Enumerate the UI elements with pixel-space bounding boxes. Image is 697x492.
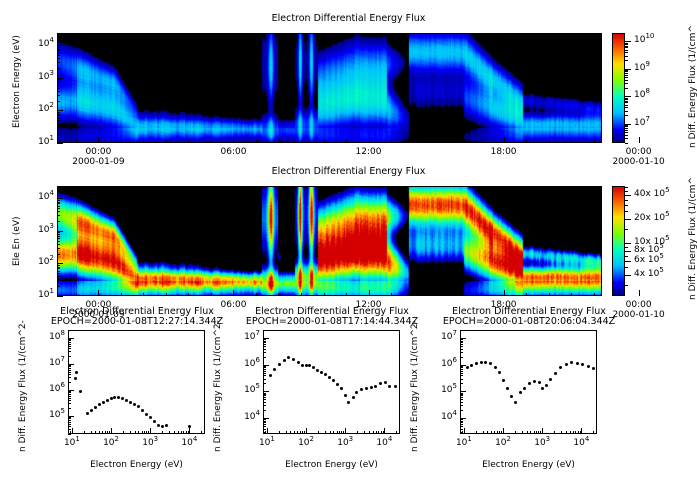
spectrum-ytick-label-2: 105	[428, 385, 457, 395]
spectrum-data-point-1	[283, 359, 286, 362]
spectrum-ytick-label-0: 108	[36, 332, 65, 342]
middle-ytick-minor	[57, 203, 60, 204]
spectrum-xtick-minor-1	[396, 431, 397, 434]
spectrum-ytick-minor-1	[263, 424, 266, 425]
spectrum-data-point-1	[340, 387, 343, 390]
spectrum-ytick-minor-0	[68, 420, 71, 421]
top-cbtick-minor	[625, 47, 628, 48]
middle-cbtick-minor	[625, 191, 628, 192]
top-ytick-minor	[57, 83, 60, 84]
spectrum-xtick-minor-1	[304, 431, 305, 434]
top-xtick-minor	[549, 140, 550, 143]
middle-xtick-minor	[188, 293, 189, 296]
spectrum-ytick-minor-0	[68, 394, 71, 395]
spectrum-xtick-minor-1	[294, 431, 295, 434]
top-ytick-minor	[57, 58, 60, 59]
top-cbtick-minor	[625, 43, 628, 44]
spectrum-xtick-minor-1	[373, 431, 374, 434]
middle-xtick-minor	[346, 293, 347, 296]
spectrum-data-point-1	[352, 396, 355, 399]
spectrum-xtick-minor-2	[566, 431, 567, 434]
spectrum-xtick-minor-2	[573, 431, 574, 434]
spectrum-xtick-minor-2	[494, 431, 495, 434]
top-xtick-minor	[256, 140, 257, 143]
spectrum-xtick-minor-1	[376, 431, 377, 434]
spectrum-xtick-minor-2	[491, 431, 492, 434]
top-cbtick-minor	[625, 50, 628, 51]
top-cbtick-minor	[625, 111, 628, 112]
spectrum-xtick-minor-0	[162, 431, 163, 434]
spectrum-xtick-minor-1	[330, 431, 331, 434]
top-panel-title: Electron Differential Energy Flux	[0, 13, 697, 24]
middle-ytick-minor	[57, 211, 60, 212]
spectrum-ytick-minor-1	[263, 344, 266, 345]
spectrum-xtick-major-1	[345, 428, 346, 434]
spectrum-xtick-minor-1	[300, 431, 301, 434]
spectrum-ytick-minor-0	[68, 346, 71, 347]
spectrum-ytick-minor-0	[68, 403, 71, 404]
spectrum-xtick-minor-0	[174, 431, 175, 434]
middle-ytick-minor	[57, 276, 60, 277]
spectrum-xtick-minor-0	[84, 431, 85, 434]
spectrum-data-point-1	[388, 385, 391, 388]
spectrum-ytick-minor-1	[263, 369, 266, 370]
spectrum-ytick-minor-2	[460, 383, 463, 384]
spectrum-xtick-minor-1	[302, 431, 303, 434]
spectrum-xtick-major-2	[464, 428, 465, 434]
middle-colorbar	[612, 186, 625, 296]
spectrum-xtick-minor-0	[123, 431, 124, 434]
spectrum-ytick-minor-1	[263, 357, 266, 358]
spectrum-xtick-minor-2	[499, 431, 500, 434]
spectrum-ytick-minor-1	[263, 421, 266, 422]
middle-xtick-minor	[278, 293, 279, 296]
top-xtick-minor	[436, 140, 437, 143]
spectrum-ytick-minor-0	[68, 377, 71, 378]
top-ytick-minor	[57, 91, 60, 92]
spectrum-ytick-minor-1	[263, 383, 266, 384]
spectrum-xtick-minor-2	[580, 431, 581, 434]
spectrum-xtick-minor-1	[279, 431, 280, 434]
spectrum-ytick-minor-0	[68, 340, 71, 341]
spectrum-xtick-minor-2	[483, 431, 484, 434]
spectrum-xtick-label-1: 104	[370, 438, 398, 448]
spectrum-ytick-minor-0	[68, 368, 71, 369]
spectrum-data-point-0	[102, 401, 105, 404]
middle-panel-ylabel: Ele En (eV)	[12, 216, 22, 266]
top-ytick-minor	[57, 68, 60, 69]
top-cbtick-minor	[625, 80, 628, 81]
middle-ytick-minor	[57, 267, 60, 268]
spectrum-ytick-label-2: 106	[428, 359, 457, 369]
top-cbtick-minor	[625, 105, 628, 106]
top-xtick-minor	[391, 140, 392, 143]
top-ytick-minor	[57, 79, 60, 80]
spectrum-xtick-minor-0	[148, 431, 149, 434]
spectrum-xtick-minor-1	[339, 431, 340, 434]
top-ytick-minor	[57, 95, 60, 96]
spectrum-data-point-0	[79, 390, 82, 393]
spectrum-ytick-minor-1	[263, 419, 266, 420]
middle-ytick-label: 101	[27, 290, 54, 300]
spectrum-xtick-major-1	[384, 428, 385, 434]
spectrum-data-point-2	[545, 384, 548, 387]
spectrum-data-point-1	[320, 371, 323, 374]
spectrum-ytick-label-2: 107	[428, 332, 457, 342]
middle-cbtick-major	[625, 261, 631, 262]
top-cbtick-minor	[625, 130, 628, 131]
top-xtick-minor	[76, 140, 77, 143]
spectrum-data-point-1	[305, 364, 308, 367]
spectrum-ytick-minor-1	[263, 429, 266, 430]
spectrum-xtick-minor-2	[515, 431, 516, 434]
middle-xtick-minor	[301, 293, 302, 296]
top-xtick-minor	[346, 140, 347, 143]
top-ytick-minor	[57, 101, 60, 102]
top-ytick-major	[57, 143, 63, 144]
spectrum-xtick-minor-2	[530, 431, 531, 434]
spectrum-ytick-minor-0	[68, 365, 71, 366]
top-ytick-minor	[57, 36, 60, 37]
middle-ytick-minor	[57, 238, 60, 239]
spectrum-ytick-minor-0	[68, 342, 71, 343]
spectrum-xtick-minor-0	[95, 431, 96, 434]
spectrum-xlabel-0: Electron Energy (eV)	[38, 460, 235, 470]
spectrum-xtick-major-2	[581, 428, 582, 434]
spectrum-xtick-minor-1	[297, 431, 298, 434]
spectrum-ytick-minor-2	[460, 342, 463, 343]
spectrum-ytick-minor-0	[68, 396, 71, 397]
spectrum-xtick-major-1	[267, 428, 268, 434]
spectrum-ylabel-0: n Diff. Energy Flux (1/(cm^2-	[18, 320, 28, 452]
top-cbtick-minor	[625, 107, 628, 108]
spectrum-ytick-minor-1	[263, 371, 266, 372]
spectrum-ytick-minor-1	[263, 397, 266, 398]
top-xtick-minor	[166, 140, 167, 143]
top-xtick-minor	[594, 140, 595, 143]
spectrum-ytick-minor-1	[263, 399, 266, 400]
spectrum-data-point-1	[278, 363, 281, 366]
top-ytick-label: 104	[27, 39, 54, 49]
spectrum-data-point-0	[129, 401, 132, 404]
spectrum-data-point-0	[125, 399, 128, 402]
middle-ytick-minor	[57, 241, 60, 242]
middle-cbtick-minor	[625, 247, 628, 248]
top-spectrogram	[57, 33, 602, 143]
middle-cbtick-label: 40x 105	[634, 189, 670, 199]
middle-ytick-minor	[57, 286, 60, 287]
top-cbtick-minor	[625, 60, 628, 61]
top-ytick-label: 101	[27, 137, 54, 147]
middle-xtick-minor	[414, 293, 415, 296]
spectrum-data-point-2	[494, 366, 497, 369]
middle-xtick-minor	[121, 293, 122, 296]
spectrum-ytick-minor-0	[68, 351, 71, 352]
spectrum-ytick-minor-0	[68, 422, 71, 423]
spectrum-ytick-label-0: 106	[36, 384, 65, 394]
spectrum-ytick-minor-1	[263, 393, 266, 394]
spectrum-ytick-minor-2	[460, 405, 463, 406]
spectrum-data-point-2	[592, 367, 595, 370]
spectrum-data-point-1	[370, 386, 373, 389]
spectrum-data-point-0	[141, 409, 144, 412]
spectrum-xtick-minor-0	[183, 431, 184, 434]
spectrum-data-point-0	[145, 413, 148, 416]
top-cbtick-label: 1010	[634, 35, 654, 45]
middle-ytick-minor	[57, 273, 60, 274]
spectrum-ytick-label-0: 105	[36, 410, 65, 420]
spectrum-ytick-minor-0	[68, 426, 71, 427]
spectrum-epoch-2: EPOCH=2000-01-08T20:06:04.344Z	[398, 316, 660, 327]
spectrum-ytick-minor-2	[460, 395, 463, 396]
spectrum-ytick-minor-0	[68, 434, 71, 435]
spectrum-ytick-minor-2	[460, 394, 463, 395]
top-cbtick-minor	[625, 99, 628, 100]
spectrum-xtick-label-2: 101	[450, 438, 478, 448]
top-colorbar-label: n Diff. Energy Flux (1/(cm^	[688, 25, 697, 148]
spectrum-xtick-minor-2	[540, 431, 541, 434]
middle-ytick-minor	[57, 244, 60, 245]
spectrum-data-point-0	[188, 425, 191, 428]
top-xtick-minor	[571, 140, 572, 143]
top-cbtick-label: 107	[634, 118, 650, 128]
top-cbtick-minor	[625, 128, 628, 129]
spectrum-xtick-label-1: 102	[292, 438, 320, 448]
top-ytick-minor	[57, 115, 60, 116]
spectrum-xtick-minor-0	[105, 431, 106, 434]
spectrum-data-point-2	[484, 361, 487, 364]
top-cbtick-minor	[625, 88, 628, 89]
spectrum-xtick-minor-1	[286, 431, 287, 434]
middle-ytick-major	[57, 296, 63, 297]
top-xtick-minor	[121, 140, 122, 143]
spectrum-ytick-minor-2	[460, 375, 463, 376]
spectrum-xtick-minor-2	[487, 431, 488, 434]
middle-cbtick-major	[625, 243, 631, 244]
top-xtick-minor	[504, 140, 505, 143]
spectrum-ytick-minor-1	[263, 394, 266, 395]
top-cbtick-minor	[625, 52, 628, 53]
top-ytick-minor	[57, 88, 60, 89]
spectrum-xtick-major-1	[306, 428, 307, 434]
spectrum-xtick-minor-2	[534, 431, 535, 434]
spectrum-ytick-minor-1	[263, 379, 266, 380]
spectrum-xtick-minor-0	[99, 431, 100, 434]
spectrum-data-point-0	[94, 406, 97, 409]
spectrum-xtick-minor-0	[146, 431, 147, 434]
spectrum-data-point-2	[565, 363, 568, 366]
top-xtick-minor	[233, 140, 234, 143]
top-cbtick-minor	[625, 56, 628, 57]
middle-xtick-minor	[459, 293, 460, 296]
middle-ytick-minor	[57, 254, 60, 255]
spectrum-data-point-2	[541, 387, 544, 390]
middle-xtick-minor	[571, 293, 572, 296]
spectrum-xtick-label-2: 104	[567, 438, 595, 448]
spectrum-xtick-minor-1	[318, 431, 319, 434]
middle-ytick-label: 103	[27, 225, 54, 235]
spectrum-ytick-minor-0	[68, 372, 71, 373]
spectrum-xtick-minor-2	[561, 431, 562, 434]
spectrum-xtick-minor-2	[593, 431, 594, 434]
spectrum-ytick-minor-1	[263, 341, 266, 342]
top-xtick-minor	[211, 140, 212, 143]
middle-ytick-label: 104	[27, 192, 54, 202]
middle-cbtick-label: 4x 105	[634, 269, 664, 279]
spectrum-ytick-minor-0	[68, 348, 71, 349]
middle-xtick-minor	[369, 293, 370, 296]
spectrum-ytick-minor-1	[263, 346, 266, 347]
spectrum-data-point-1	[384, 381, 387, 384]
middle-ytick-minor	[57, 280, 60, 281]
spectrum-xtick-major-0	[189, 428, 190, 434]
spectrum-xtick-minor-0	[107, 431, 108, 434]
spectrum-data-point-0	[86, 412, 89, 415]
spectrum-data-point-0	[74, 377, 77, 380]
spectrum-data-point-1	[301, 364, 304, 367]
middle-ytick-minor	[57, 200, 60, 201]
middle-ytick-minor	[57, 208, 60, 209]
middle-cbtick-minor	[625, 285, 628, 286]
spectrum-xtick-minor-2	[501, 431, 502, 434]
middle-xtick-minor	[256, 293, 257, 296]
spectrum-xlabel-2: Electron Energy (eV)	[430, 460, 627, 470]
spectrum-xtick-label-1: 101	[253, 438, 281, 448]
top-xtick-label: 00:00	[76, 147, 120, 157]
spectrum-ytick-minor-0	[68, 391, 71, 392]
middle-cbtick-major	[625, 275, 631, 276]
spectrum-data-point-0	[110, 397, 113, 400]
middle-xtick-minor	[211, 293, 212, 296]
spectrum-ytick-minor-0	[68, 374, 71, 375]
top-ytick-minor	[57, 123, 60, 124]
spectrum-data-point-2	[538, 381, 541, 384]
spectrum-xtick-minor-1	[369, 431, 370, 434]
spectrum-xtick-minor-2	[497, 431, 498, 434]
spectrum-data-point-1	[328, 376, 331, 379]
spectrum-ytick-minor-1	[263, 352, 266, 353]
spectrum-data-point-1	[374, 385, 377, 388]
top-cbtick-minor	[625, 44, 628, 45]
spectrum-ytick-label-0: 107	[36, 358, 65, 368]
top-xtick-label: 18:00	[482, 147, 526, 157]
spectrum-data-point-1	[365, 387, 368, 390]
spectrum-ytick-minor-2	[460, 399, 463, 400]
top-cbtick-minor	[625, 132, 628, 133]
top-cbtick-minor	[625, 125, 628, 126]
top-xtick-minor	[526, 140, 527, 143]
top-ytick-minor	[57, 53, 60, 54]
spectrum-xtick-minor-0	[181, 431, 182, 434]
spectrum-xtick-minor-1	[290, 431, 291, 434]
spectrum-ytick-minor-2	[460, 393, 463, 394]
middle-cbtick-label: 6x 105	[634, 255, 664, 265]
top-ytick-minor	[57, 120, 60, 121]
spectrum-ytick-minor-2	[460, 402, 463, 403]
spectrum-axes-0	[68, 330, 205, 434]
spectrum-data-point-2	[587, 365, 590, 368]
spectrum-ytick-minor-0	[68, 366, 71, 367]
middle-spectrogram	[57, 186, 602, 296]
spectrum-xtick-minor-1	[263, 431, 264, 434]
spectrum-xtick-minor-0	[138, 431, 139, 434]
spectrum-ylabel-2: n Diff. Energy Flux (1/(cm^2-	[410, 320, 420, 452]
middle-ytick-minor	[57, 189, 60, 190]
spectrum-ytick-minor-1	[263, 395, 266, 396]
spectrum-ytick-label-2: 104	[428, 412, 457, 422]
middle-cbtick-minor	[625, 267, 628, 268]
spectrum-ytick-minor-1	[263, 402, 266, 403]
top-xtick-minor	[301, 140, 302, 143]
spectrum-xtick-minor-0	[70, 431, 71, 434]
spectrum-ytick-minor-2	[460, 344, 463, 345]
spectrum-xtick-label-0: 103	[136, 438, 164, 448]
middle-xtick-major	[639, 290, 640, 296]
top-xtick-minor	[188, 140, 189, 143]
top-ytick-minor	[57, 118, 60, 119]
spectrum-ytick-minor-0	[68, 344, 71, 345]
spectrum-data-point-0	[75, 371, 78, 374]
spectrum-ytick-label-1: 106	[231, 359, 260, 369]
top-ytick-label: 102	[27, 104, 54, 114]
spectrum-xtick-minor-1	[343, 431, 344, 434]
spectrum-data-point-1	[269, 374, 272, 377]
spectrum-ytick-label-1: 107	[231, 332, 260, 342]
spectrum-ytick-minor-2	[460, 341, 463, 342]
top-ytick-minor	[57, 112, 60, 113]
spectrum-xtick-minor-0	[144, 431, 145, 434]
spectrum-data-point-0	[153, 420, 156, 423]
spectrum-data-point-2	[510, 395, 513, 398]
top-xtick-major	[639, 137, 640, 143]
spectrum-xtick-minor-1	[333, 431, 334, 434]
spectrum-data-point-2	[576, 362, 579, 365]
middle-cbtick-minor	[625, 200, 628, 201]
spectrum-xtick-minor-2	[522, 431, 523, 434]
top-ytick-minor	[57, 47, 60, 48]
spectrum-xtick-label-1: 103	[331, 438, 359, 448]
spectrum-ytick-minor-2	[460, 339, 463, 340]
spectrum-ytick-minor-2	[460, 419, 463, 420]
spectrum-ytick-minor-1	[263, 342, 266, 343]
spectrum-ytick-minor-2	[460, 397, 463, 398]
spectrum-xtick-minor-1	[357, 431, 358, 434]
spectrum-xtick-minor-0	[130, 431, 131, 434]
middle-ytick-minor	[57, 215, 60, 216]
middle-xtick-minor	[324, 293, 325, 296]
spectrum-ytick-minor-0	[68, 400, 71, 401]
middle-colorbar-label: n Diff. Energy Flux (1/(cm^	[688, 177, 697, 300]
middle-ytick-minor	[57, 268, 60, 269]
top-cbtick-minor	[625, 70, 628, 71]
spectrum-xtick-minor-1	[383, 431, 384, 434]
top-ytick-minor	[57, 55, 60, 56]
spectrum-ytick-label-1: 105	[231, 385, 260, 395]
spectrum-ytick-minor-2	[460, 352, 463, 353]
top-xtick-minor	[278, 140, 279, 143]
top-ytick-minor	[57, 85, 60, 86]
top-ytick-label: 103	[27, 72, 54, 82]
spectrum-ytick-minor-0	[68, 339, 71, 340]
top-xtick-minor	[481, 140, 482, 143]
middle-ytick-minor	[57, 232, 60, 233]
spectrum-ytick-minor-2	[460, 349, 463, 350]
spectrum-ytick-minor-2	[460, 422, 463, 423]
middle-xtick-minor	[143, 293, 144, 296]
top-cbtick-minor	[625, 115, 628, 116]
spectrum-xtick-minor-1	[381, 431, 382, 434]
spectrum-ytick-minor-2	[460, 367, 463, 368]
